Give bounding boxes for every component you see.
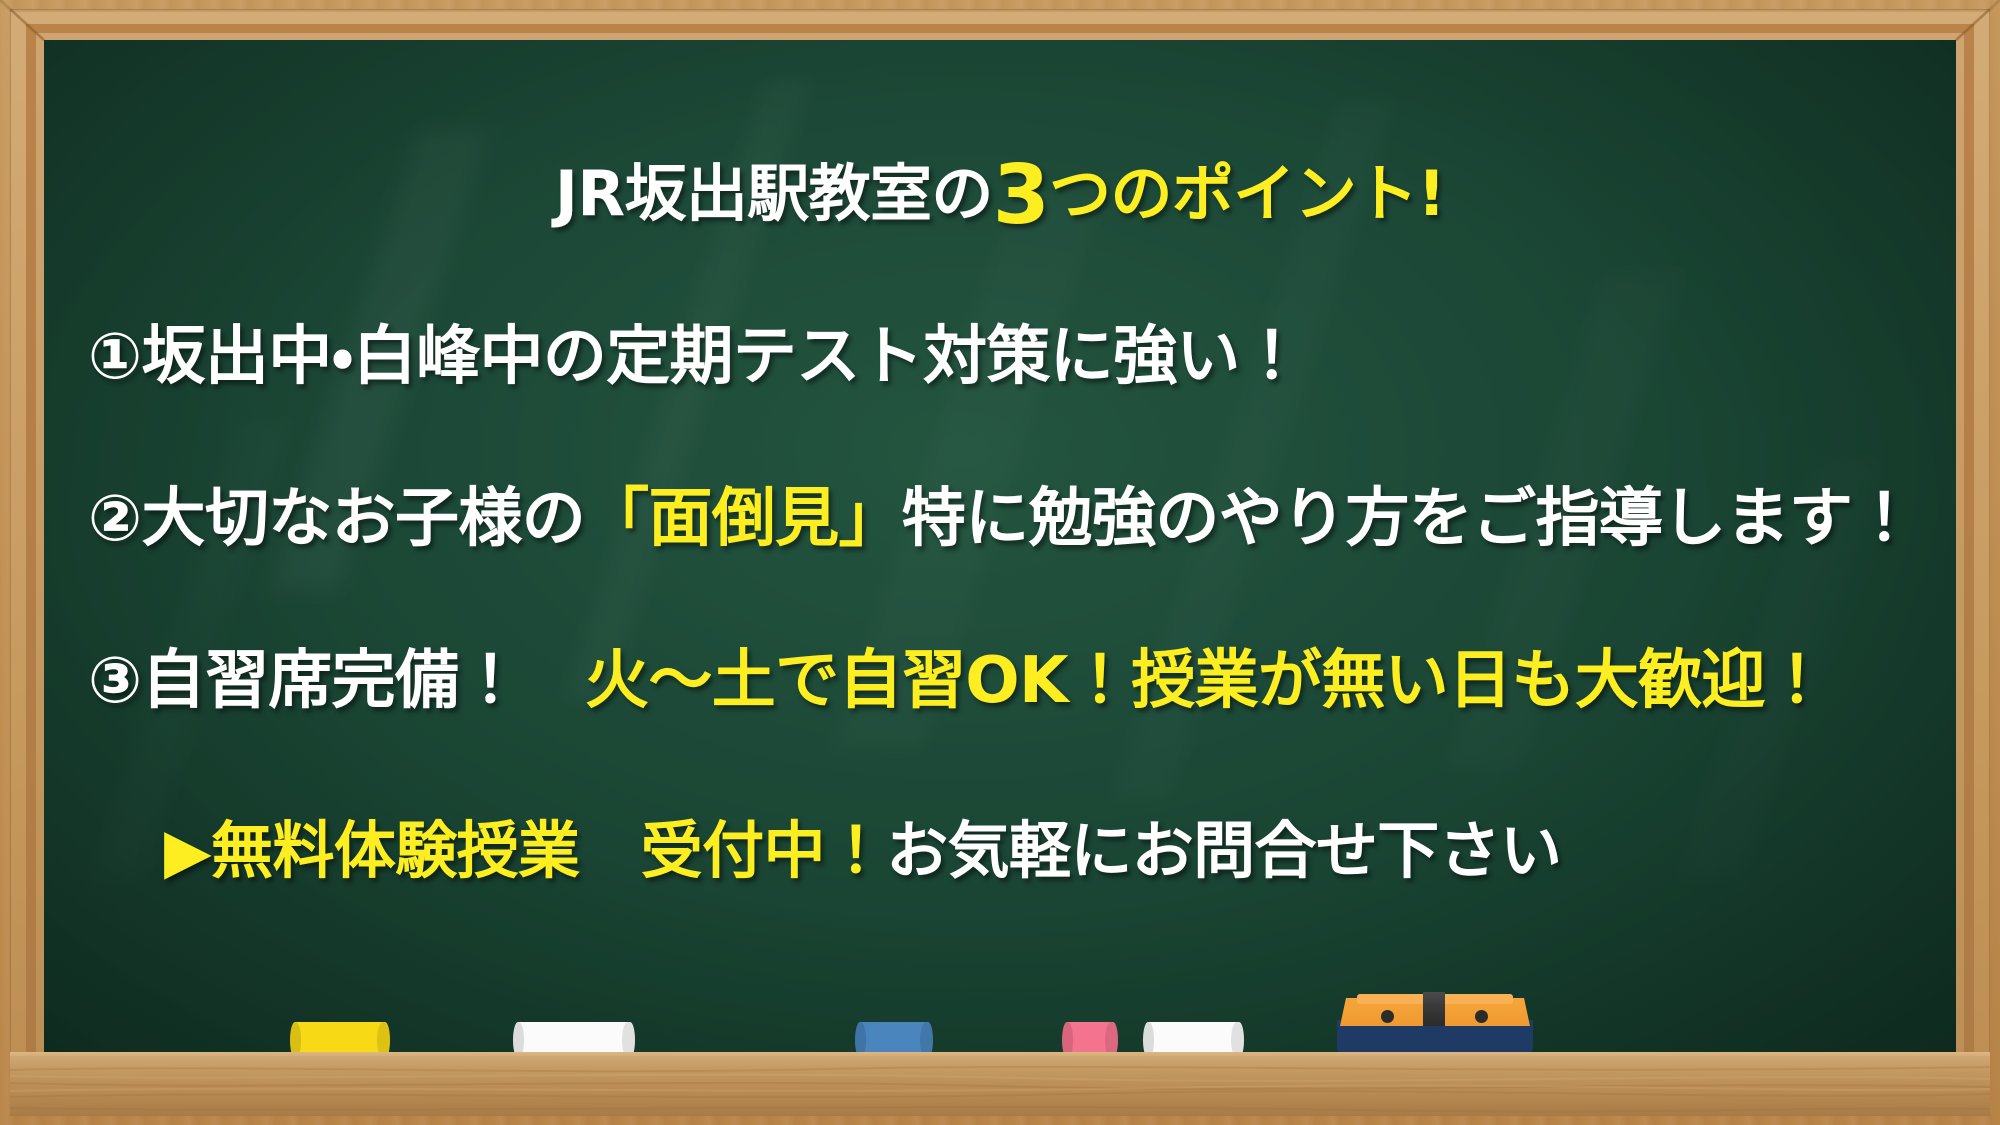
cta-text: お気軽にお問合せ下さい [886,814,1561,887]
eraser-strap [1423,992,1445,1026]
point-2-text-b: 特に勉強のやり方をご指導します！ [902,482,1916,556]
board-text-layer: JR坂出駅教室の3つのポイント! ①坂出中・白峰中の定期テスト対策に強い！ ②大… [44,40,1956,1066]
cta-highlight: ▶無料体験授業 受付中！ [164,814,886,887]
point-1-text: ①坂出中・白峰中の定期テスト対策に強い！ [88,320,1303,394]
eraser-rivet-left [1381,1010,1394,1023]
point-2-text-a: ②大切なお子様の [88,482,585,556]
headline-white-text: JR坂出駅教室の [555,157,993,230]
point-3-highlight: 火〜土で自習OK！授業が無い日も大歓迎！ [585,644,1828,718]
headline-number: 3 [993,148,1049,243]
tray-wood-grain [10,1056,1990,1116]
chalk-tray [10,1056,1990,1116]
point-3-text-a: ③自習席完備！ [88,644,585,718]
headline: JR坂出駅教室の3つのポイント! [44,155,1956,237]
point-line-3: ③自習席完備！ 火〜土で自習OK！授業が無い日も大歓迎！ [88,649,1828,713]
point-line-2: ②大切なお子様の「面倒見」特に勉強のやり方をご指導します！ [88,487,1916,551]
point-line-1: ①坂出中・白峰中の定期テスト対策に強い！ [88,325,1303,389]
chalkboard-surface: JR坂出駅教室の3つのポイント! ①坂出中・白峰中の定期テスト対策に強い！ ②大… [44,40,1956,1066]
eraser-rivet-right [1475,1010,1488,1023]
headline-yellow-text: つのポイント! [1049,157,1445,230]
blackboard-poster: JR坂出駅教室の3つのポイント! ①坂出中・白峰中の定期テスト対策に強い！ ②大… [0,0,2000,1125]
cta-line: ▶無料体験授業 受付中！お気軽にお問合せ下さい [164,820,1561,882]
point-2-highlight: 「面倒見」 [585,482,902,556]
